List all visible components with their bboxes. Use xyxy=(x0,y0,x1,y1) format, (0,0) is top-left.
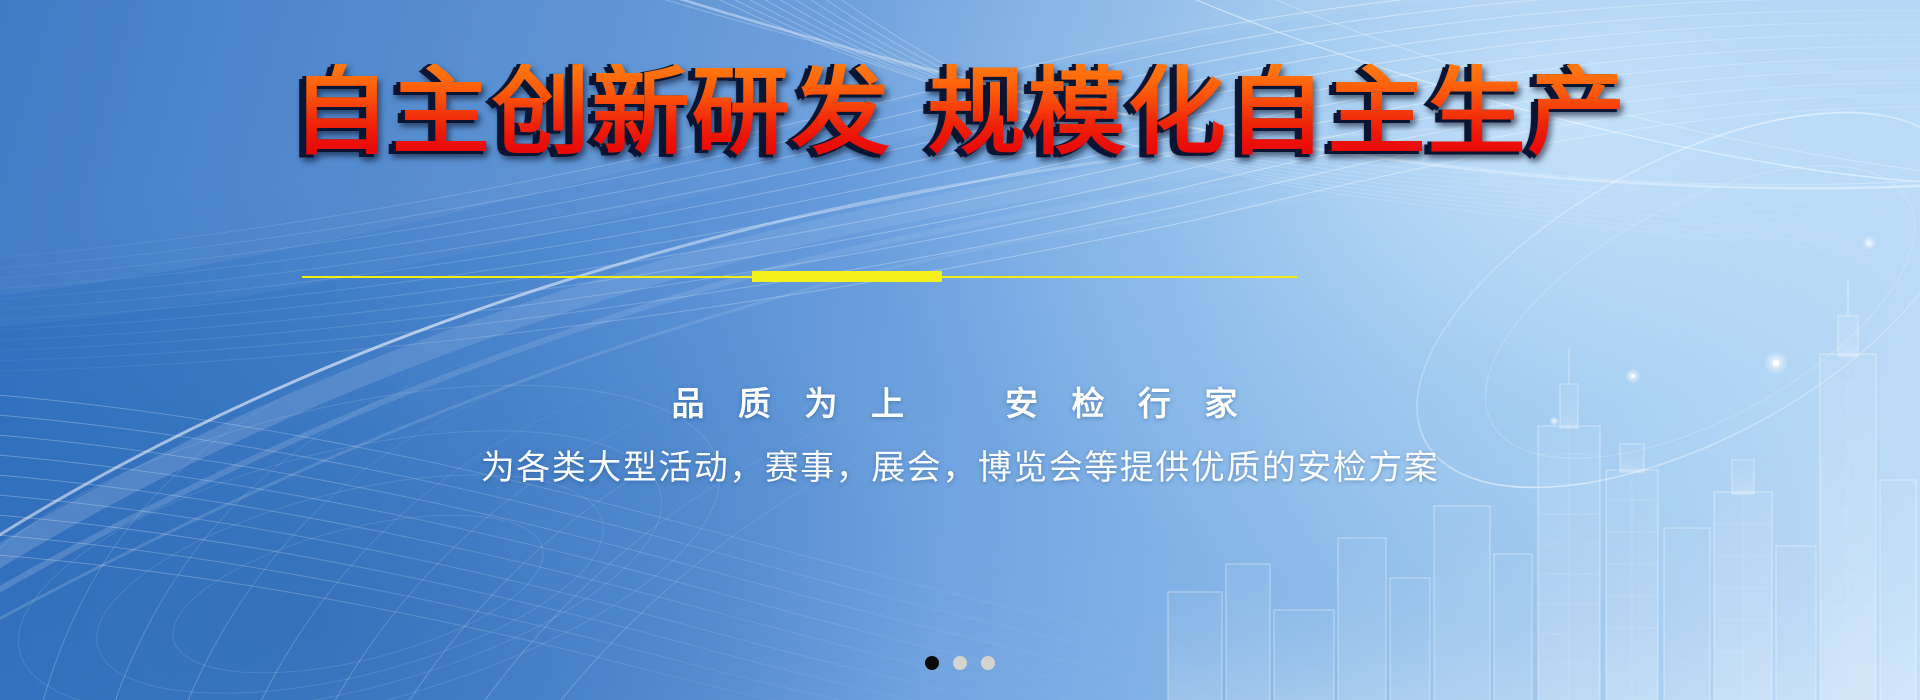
subtitle-primary: 品 质 为 上 安 检 行 家 xyxy=(0,382,1920,427)
carousel-indicators[interactable] xyxy=(0,656,1920,670)
carousel-dot-1[interactable] xyxy=(925,656,939,670)
page-title: 自主创新研发 规模化自主生产 xyxy=(292,64,1628,160)
title-divider xyxy=(302,275,1297,278)
carousel-dot-3[interactable] xyxy=(981,656,995,670)
subtitle-container: 品 质 为 上 安 检 行 家 为各类大型活动，赛事，展会，博览会等提供优质的安… xyxy=(0,382,1920,492)
divider-accent-bar xyxy=(752,271,942,282)
subtitle-secondary: 为各类大型活动，赛事，展会，博览会等提供优质的安检方案 xyxy=(0,445,1920,493)
hero-banner: 自主创新研发 规模化自主生产 品 质 为 上 安 检 行 家 为各类大型活动，赛… xyxy=(0,0,1920,700)
carousel-dot-2[interactable] xyxy=(953,656,967,670)
headline-container: 自主创新研发 规模化自主生产 xyxy=(0,64,1920,160)
